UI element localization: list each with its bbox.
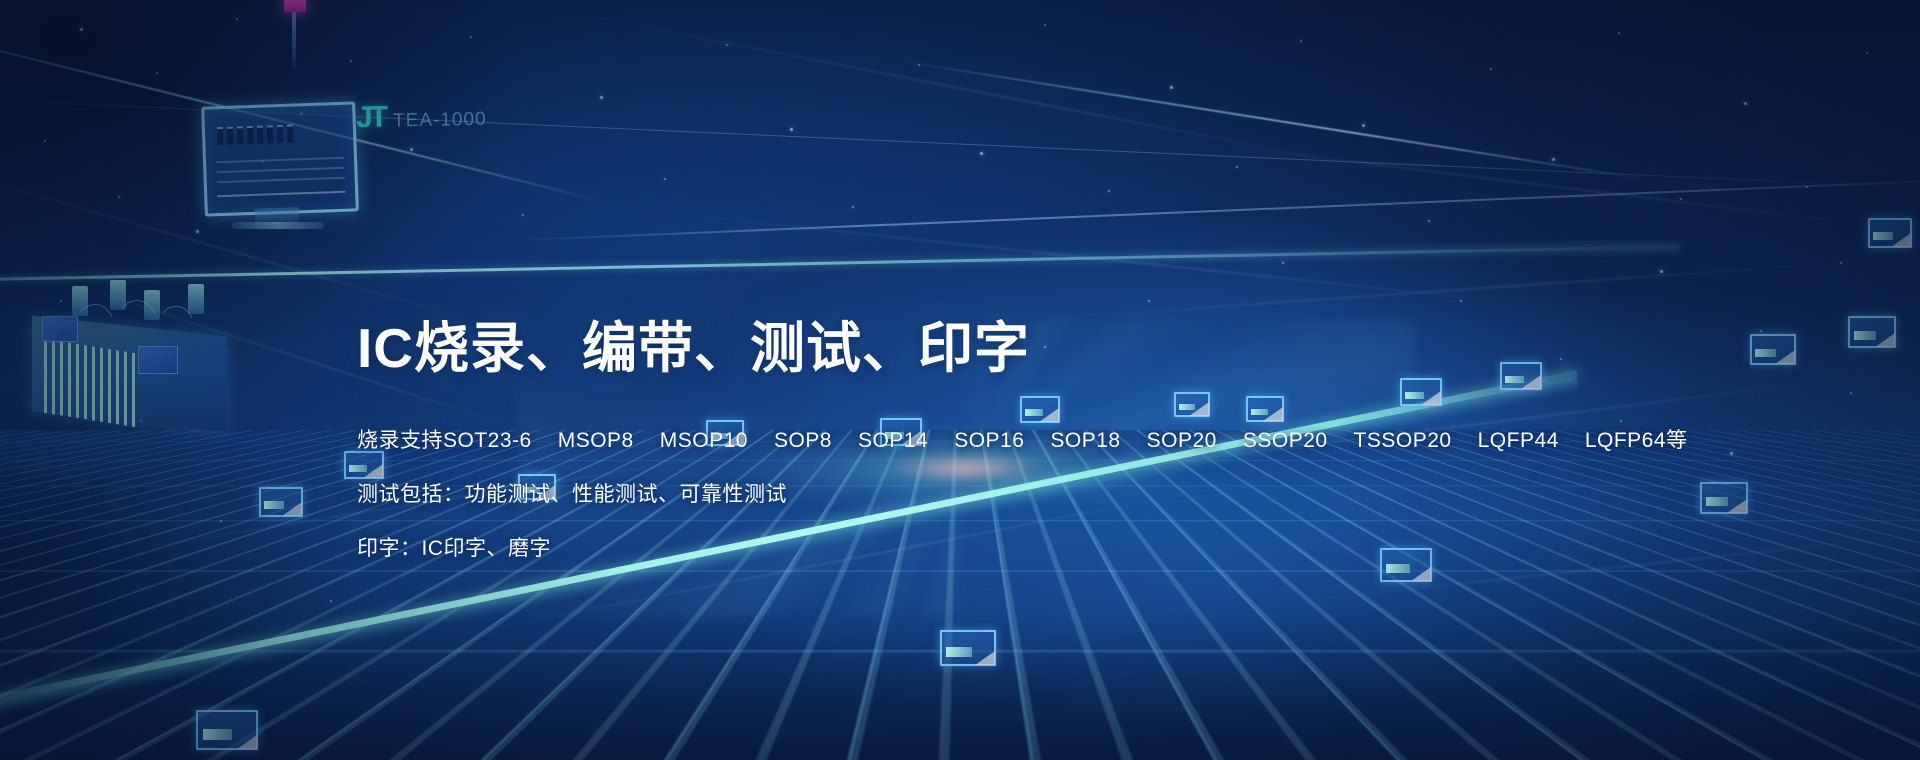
package-type: SOP16 xyxy=(954,430,1024,451)
package-type: TSSOP20 xyxy=(1354,430,1452,451)
package-type-list: MSOP8MSOP10SOP8SOP14SOP16SOP18SOP20SSOP2… xyxy=(558,429,1688,452)
machine-cylinder-4 xyxy=(188,284,204,314)
package-type: SOP14 xyxy=(858,430,928,451)
package-type: SSOP20 xyxy=(1243,430,1328,451)
mini-monitor-icon xyxy=(1848,316,1896,348)
machine-box-2 xyxy=(138,346,178,374)
subtitle-burn-support: 烧录支持SOT23-6MSOP8MSOP10SOP8SOP14SOP16SOP1… xyxy=(357,430,1657,451)
monitor-line-3 xyxy=(217,177,345,183)
machine-monitor-icon xyxy=(201,101,359,216)
page-title: IC烧录、编带、测试、印字 xyxy=(357,318,1657,380)
brand-model-label: TEA-1000 xyxy=(393,109,487,133)
indicator-pole xyxy=(292,12,296,70)
mini-monitor-icon xyxy=(259,487,303,517)
equipment-brand-logo: JT TEA-1000 xyxy=(356,99,487,135)
mini-monitor-icon xyxy=(1700,482,1748,514)
mini-monitor-icon xyxy=(1868,218,1912,248)
machine-assembly xyxy=(10,280,260,460)
monitor-line-2 xyxy=(216,167,344,173)
subtitle-test-scope: 测试包括：功能测试、性能测试、可靠性测试 xyxy=(357,484,1657,505)
package-type: LQFP64等 xyxy=(1585,430,1688,451)
package-type: MSOP8 xyxy=(558,430,634,451)
banner-subtitle-list: 烧录支持SOT23-6MSOP8MSOP10SOP8SOP14SOP16SOP1… xyxy=(357,430,1657,559)
package-type: SOP18 xyxy=(1050,430,1120,451)
subtitle-printing-scope: 印字：IC印字、磨字 xyxy=(357,538,1657,559)
package-type: LQFP44 xyxy=(1478,430,1559,451)
monitor-line-4 xyxy=(217,191,345,197)
indicator-lamp-icon xyxy=(284,0,306,12)
monitor-chart-bars xyxy=(217,125,294,146)
package-type: SOP20 xyxy=(1147,430,1217,451)
monitor-base xyxy=(232,222,324,229)
mini-monitor-icon xyxy=(940,630,996,666)
hero-banner: JT TEA-1000 IC烧录、编带、测试、印字 烧录支持SOT23-6MSO… xyxy=(0,0,1920,760)
mini-monitor-icon xyxy=(1750,334,1796,365)
banner-content: IC烧录、编带、测试、印字 烧录支持SOT23-6MSOP8MSOP10SOP8… xyxy=(357,318,1657,559)
brand-mark-jt: JT xyxy=(356,101,386,136)
burn-support-prefix: 烧录支持SOT23-6 xyxy=(357,429,532,452)
monitor-line-1 xyxy=(216,157,344,163)
machine-fins xyxy=(44,339,136,428)
package-type: MSOP10 xyxy=(660,430,748,451)
package-type: SOP8 xyxy=(774,430,832,451)
mini-monitor-icon xyxy=(196,710,258,750)
machine-box-1 xyxy=(42,316,78,342)
